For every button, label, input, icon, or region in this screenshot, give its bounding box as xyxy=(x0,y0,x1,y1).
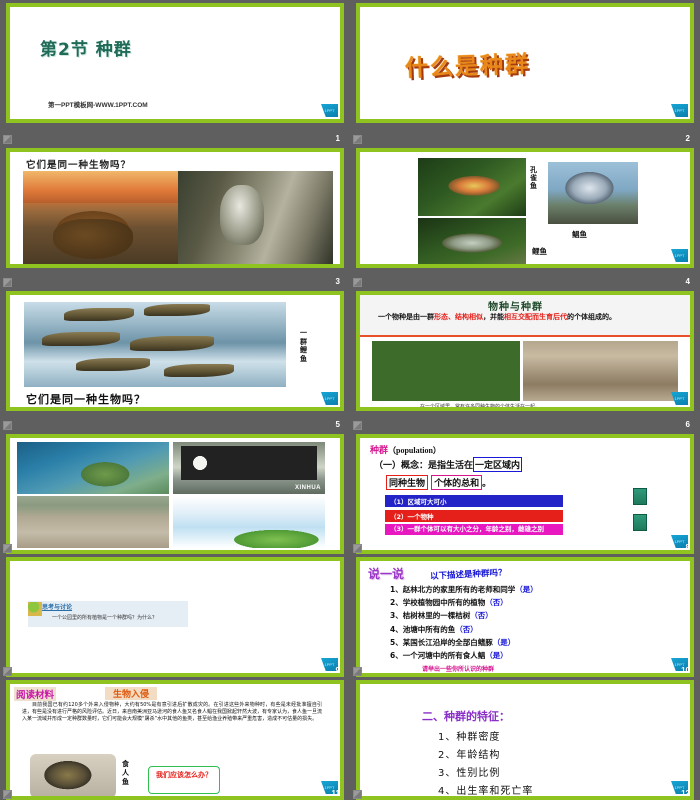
slide-10-footer: 请举出一些你所认识的种群 xyxy=(422,664,494,673)
thumbnail-badge-icon xyxy=(353,544,362,553)
ppt-logo-icon: 1PPT xyxy=(671,249,688,262)
list-item: 6、一个河塘中的所有食人鲳（是） xyxy=(390,649,538,662)
goat-herd-photo xyxy=(17,496,169,548)
list-item: 1、赵林北方的家里所有的老师和同学（是） xyxy=(390,583,538,596)
thumbnail-badge-icon xyxy=(3,790,12,799)
ppt-logo-icon: 1PPT xyxy=(671,392,688,405)
slide-12-title: 二、种群的特征： xyxy=(422,708,510,724)
slide-3-image-row xyxy=(23,171,333,265)
item-answer: （是） xyxy=(515,585,538,594)
slide-9[interactable]: 思考与讨论 一个公园里的所有植物是一个种群吗？为什么？ 1PPT xyxy=(6,557,344,677)
pomfret-photo xyxy=(548,162,638,224)
thumbnail-badge-icon xyxy=(353,278,362,287)
slide-number-12: 12 xyxy=(681,789,690,798)
slide-cell-3[interactable]: 它们是同一种生物吗？ 3 xyxy=(0,145,350,288)
item-text: 2、学校植物园中所有的植物 xyxy=(390,598,485,607)
slide-11-title-right: 生物入侵 xyxy=(105,687,157,700)
slide-11-fish-label: 食人鱼 xyxy=(122,760,130,787)
slide-number-9: 9 xyxy=(336,666,340,675)
slide-cell-12[interactable]: 二、种群的特征： 1、种群密度 2、年龄结构 3、性别比例 4、出生率和死亡率 … xyxy=(350,677,700,800)
list-item: 3、性别比例 xyxy=(438,765,533,783)
bird-flock-photo xyxy=(173,496,325,548)
thumbnail-badge-icon xyxy=(3,135,12,144)
slide-number-11: 11 xyxy=(332,789,340,798)
slide-4[interactable]: 孔雀鱼 鲳鱼 鲤鱼 1PPT xyxy=(356,148,694,268)
sunflower-field-photo xyxy=(372,341,520,401)
thumbnail-badge-icon xyxy=(353,790,362,799)
slide-5-title: 它们是同一种生物吗？ xyxy=(26,391,146,407)
lightbulb-icon xyxy=(28,602,42,616)
slide-8-heading: 种群（population） xyxy=(370,443,441,456)
slide-3[interactable]: 它们是同一种生物吗？ xyxy=(6,148,344,268)
ppt-logo-icon: 1PPT xyxy=(321,104,338,117)
slide-12-feature-list: 1、种群密度 2、年龄结构 3、性别比例 4、出生率和死亡率 xyxy=(438,729,533,800)
slide-8-point-2: （2）一个物种 xyxy=(385,510,563,522)
label-carp: 鲤鱼 xyxy=(532,246,547,257)
slide-1-subtitle: 第一PPT模板网-WWW.1PPT.COM xyxy=(48,99,148,109)
heading-en: （population） xyxy=(388,446,441,455)
slide-9-panel-text: 一个公园里的所有植物是一个种群吗？为什么？ xyxy=(52,614,157,621)
body-text-3: 的个体组成的。 xyxy=(567,313,616,321)
label-guppy: 孔雀鱼 xyxy=(530,166,538,190)
slide-cell-2[interactable]: 什么是种群 1PPT 2 xyxy=(350,0,700,145)
item-answer: （否） xyxy=(485,598,508,607)
item-answer: （是） xyxy=(493,638,516,647)
body-text-1: 一个物种是由一群 xyxy=(378,313,434,321)
item-text: 3、桔树林里的一棵桔树 xyxy=(390,611,470,620)
slide-number-5: 5 xyxy=(336,420,340,429)
slide-cell-6[interactable]: 物种与种群 一个物种是由一群形态、结构相似，并能相互交配而生育后代的个体组成的。… xyxy=(350,288,700,431)
slide-cell-5[interactable]: 它们是同一种生物吗？ 一群鲤鱼 1PPT 5 xyxy=(0,288,350,431)
item-text: 1、赵林北方的家里所有的老师和同学 xyxy=(390,585,515,594)
deer-photo xyxy=(178,171,333,265)
slide-6-body: 一个物种是由一群形态、结构相似，并能相互交配而生育后代的个体组成的。 xyxy=(378,313,678,323)
slide-6-caption: 在一个区域里，常有许多同种生物的个体生活在一起。 xyxy=(420,403,540,410)
list-item: 5、某国长江沿岸的全部白鳍豚（是） xyxy=(390,636,538,649)
slide-10-title-left: 说一说 xyxy=(368,565,404,582)
list-item: 1、种群密度 xyxy=(438,729,533,747)
body-text-2: ，并能 xyxy=(483,313,504,321)
concept-suffix: 。 xyxy=(482,479,491,489)
slide-cell-10[interactable]: 说一说 以下描述是种群吗？ 1、赵林北方的家里所有的老师和同学（是） 2、学校植… xyxy=(350,554,700,677)
slide-number-10: 10 xyxy=(681,666,690,675)
slide-10-question-list: 1、赵林北方的家里所有的老师和同学（是） 2、学校植物园中所有的植物（否） 3、… xyxy=(390,583,538,662)
slide-number-7: 7 xyxy=(336,543,340,552)
slide-cell-4[interactable]: 孔雀鱼 鲳鱼 鲤鱼 1PPT 4 xyxy=(350,145,700,288)
school-of-fish-photo xyxy=(24,302,286,387)
guppy-photo xyxy=(418,158,526,216)
list-item: 2、年龄结构 xyxy=(438,747,533,765)
slide-6-title: 物种与种群 xyxy=(488,298,543,313)
slide-11-speech-bubble: 我们应该怎么办？ xyxy=(148,766,220,794)
slide-11-body: 目前我国已有约120多个外来入侵物种，大约有50%是有意引进后扩散成灾的。在引进… xyxy=(22,702,322,724)
thumbnail-badge-icon xyxy=(3,667,12,676)
body-red-1: 形态、结构相似 xyxy=(434,313,483,321)
slide-8-point-3: （3）一群个体可以有大小之分，年龄之别，雌雄之别 xyxy=(385,524,563,535)
body-red-3: 而生育后代 xyxy=(532,313,567,321)
panda-photo: XINHUA xyxy=(173,442,325,494)
item-answer: （否） xyxy=(470,611,493,620)
slide-10-title-right: 以下描述是种群吗？ xyxy=(430,566,507,582)
slide-3-title: 它们是同一种生物吗？ xyxy=(26,157,131,171)
lion-photo xyxy=(23,171,178,265)
thumbnail-badge-icon xyxy=(353,667,362,676)
label-pomfret: 鲳鱼 xyxy=(572,229,587,240)
thumbnail-badge-icon xyxy=(353,421,362,430)
carp-photo xyxy=(418,218,526,268)
list-item: 3、桔树林里的一棵桔树（否） xyxy=(390,609,538,622)
media-placeholder-icon[interactable] xyxy=(633,488,647,505)
item-text: 5、某国长江沿岸的全部白鳍豚 xyxy=(390,638,493,647)
herd-photo xyxy=(523,341,678,401)
slide-6[interactable]: 物种与种群 一个物种是由一群形态、结构相似，并能相互交配而生育后代的个体组成的。… xyxy=(356,291,694,411)
fish-school-photo xyxy=(17,442,169,494)
slide-number-8: 8 xyxy=(686,543,690,552)
item-text: 6、一个河塘中的所有食人鲳 xyxy=(390,651,485,660)
list-item: 4、出生率和死亡率 xyxy=(438,783,533,800)
concept-box-species: 同种生物 xyxy=(386,475,428,490)
slide-10[interactable]: 说一说 以下描述是种群吗？ 1、赵林北方的家里所有的老师和同学（是） 2、学校植… xyxy=(356,557,694,677)
slide-7[interactable]: XINHUA xyxy=(6,434,344,554)
slide-1-title: 第2节 种群 xyxy=(40,35,132,60)
concept-prefix: （一）概念：是指生活在 xyxy=(374,461,473,471)
slide-cell-11[interactable]: 阅读材料 生物入侵 目前我国已有约120多个外来入侵物种，大约有50%是有意引进… xyxy=(0,677,350,800)
slide-11-title-left: 阅读材料 xyxy=(14,687,56,701)
slide-cell-8[interactable]: 种群（population） （一）概念：是指生活在一定区域内 同种生物 个体的… xyxy=(350,431,700,554)
item-answer: （否） xyxy=(455,625,478,634)
ppt-logo-icon: 1PPT xyxy=(321,392,338,405)
thumbnail-badge-icon xyxy=(3,544,12,553)
slide-number-2: 2 xyxy=(686,134,690,143)
body-red-2: 相互交配 xyxy=(504,313,532,321)
thumbnail-badge-icon xyxy=(3,421,12,430)
slide-number-3: 3 xyxy=(336,277,340,286)
slide-2-title: 什么是种群 xyxy=(404,45,530,83)
home-icon[interactable] xyxy=(633,514,647,531)
slide-number-6: 6 xyxy=(686,420,690,429)
piranha-photo xyxy=(30,754,116,798)
slide-cell-7[interactable]: XINHUA 7 xyxy=(0,431,350,554)
ppt-logo-icon: 1PPT xyxy=(671,104,688,117)
item-answer: （是） xyxy=(485,651,508,660)
concept-box-total: 个体的总和 xyxy=(431,475,482,490)
item-text: 4、池塘中所有的鱼 xyxy=(390,625,455,634)
slide-2[interactable]: 什么是种群 1PPT xyxy=(356,3,694,123)
xinhua-watermark: XINHUA xyxy=(295,485,321,491)
slide-1[interactable]: 第2节 种群 第一PPT模板网-WWW.1PPT.COM 1PPT xyxy=(6,3,344,123)
thumbnail-badge-icon xyxy=(353,135,362,144)
slide-8[interactable]: 种群（population） （一）概念：是指生活在一定区域内 同种生物 个体的… xyxy=(356,434,694,554)
slide-8-concept-line: （一）概念：是指生活在一定区域内 xyxy=(374,457,522,472)
slide-cell-1[interactable]: 第2节 种群 第一PPT模板网-WWW.1PPT.COM 1PPT 1 xyxy=(0,0,350,145)
slide-9-panel-header: 思考与讨论 xyxy=(42,602,72,611)
slide-5[interactable]: 它们是同一种生物吗？ 一群鲤鱼 1PPT xyxy=(6,291,344,411)
slide-cell-9[interactable]: 思考与讨论 一个公园里的所有植物是一个种群吗？为什么？ 1PPT 9 xyxy=(0,554,350,677)
slide-11[interactable]: 阅读材料 生物入侵 目前我国已有约120多个外来入侵物种，大约有50%是有意引进… xyxy=(6,680,344,800)
slide-8-concept-line2: 同种生物 个体的总和。 xyxy=(386,475,491,490)
list-item: 2、学校植物园中所有的植物（否） xyxy=(390,596,538,609)
list-item: 4、池塘中所有的鱼（否） xyxy=(390,623,538,636)
thumbnail-badge-icon xyxy=(3,278,12,287)
slide-8-point-1: （1）区域可大可小 xyxy=(385,495,563,507)
concept-box-region: 一定区域内 xyxy=(473,457,522,472)
slide-12[interactable]: 二、种群的特征： 1、种群密度 2、年龄结构 3、性别比例 4、出生率和死亡率 … xyxy=(356,680,694,800)
slide-number-4: 4 xyxy=(686,277,690,286)
heading-cn: 种群 xyxy=(370,446,388,456)
slide-thumbnail-grid: 第2节 种群 第一PPT模板网-WWW.1PPT.COM 1PPT 1 什么是种… xyxy=(0,0,700,431)
slide-5-side-label: 一群鲤鱼 xyxy=(300,329,308,363)
slide-number-1: 1 xyxy=(336,134,340,143)
